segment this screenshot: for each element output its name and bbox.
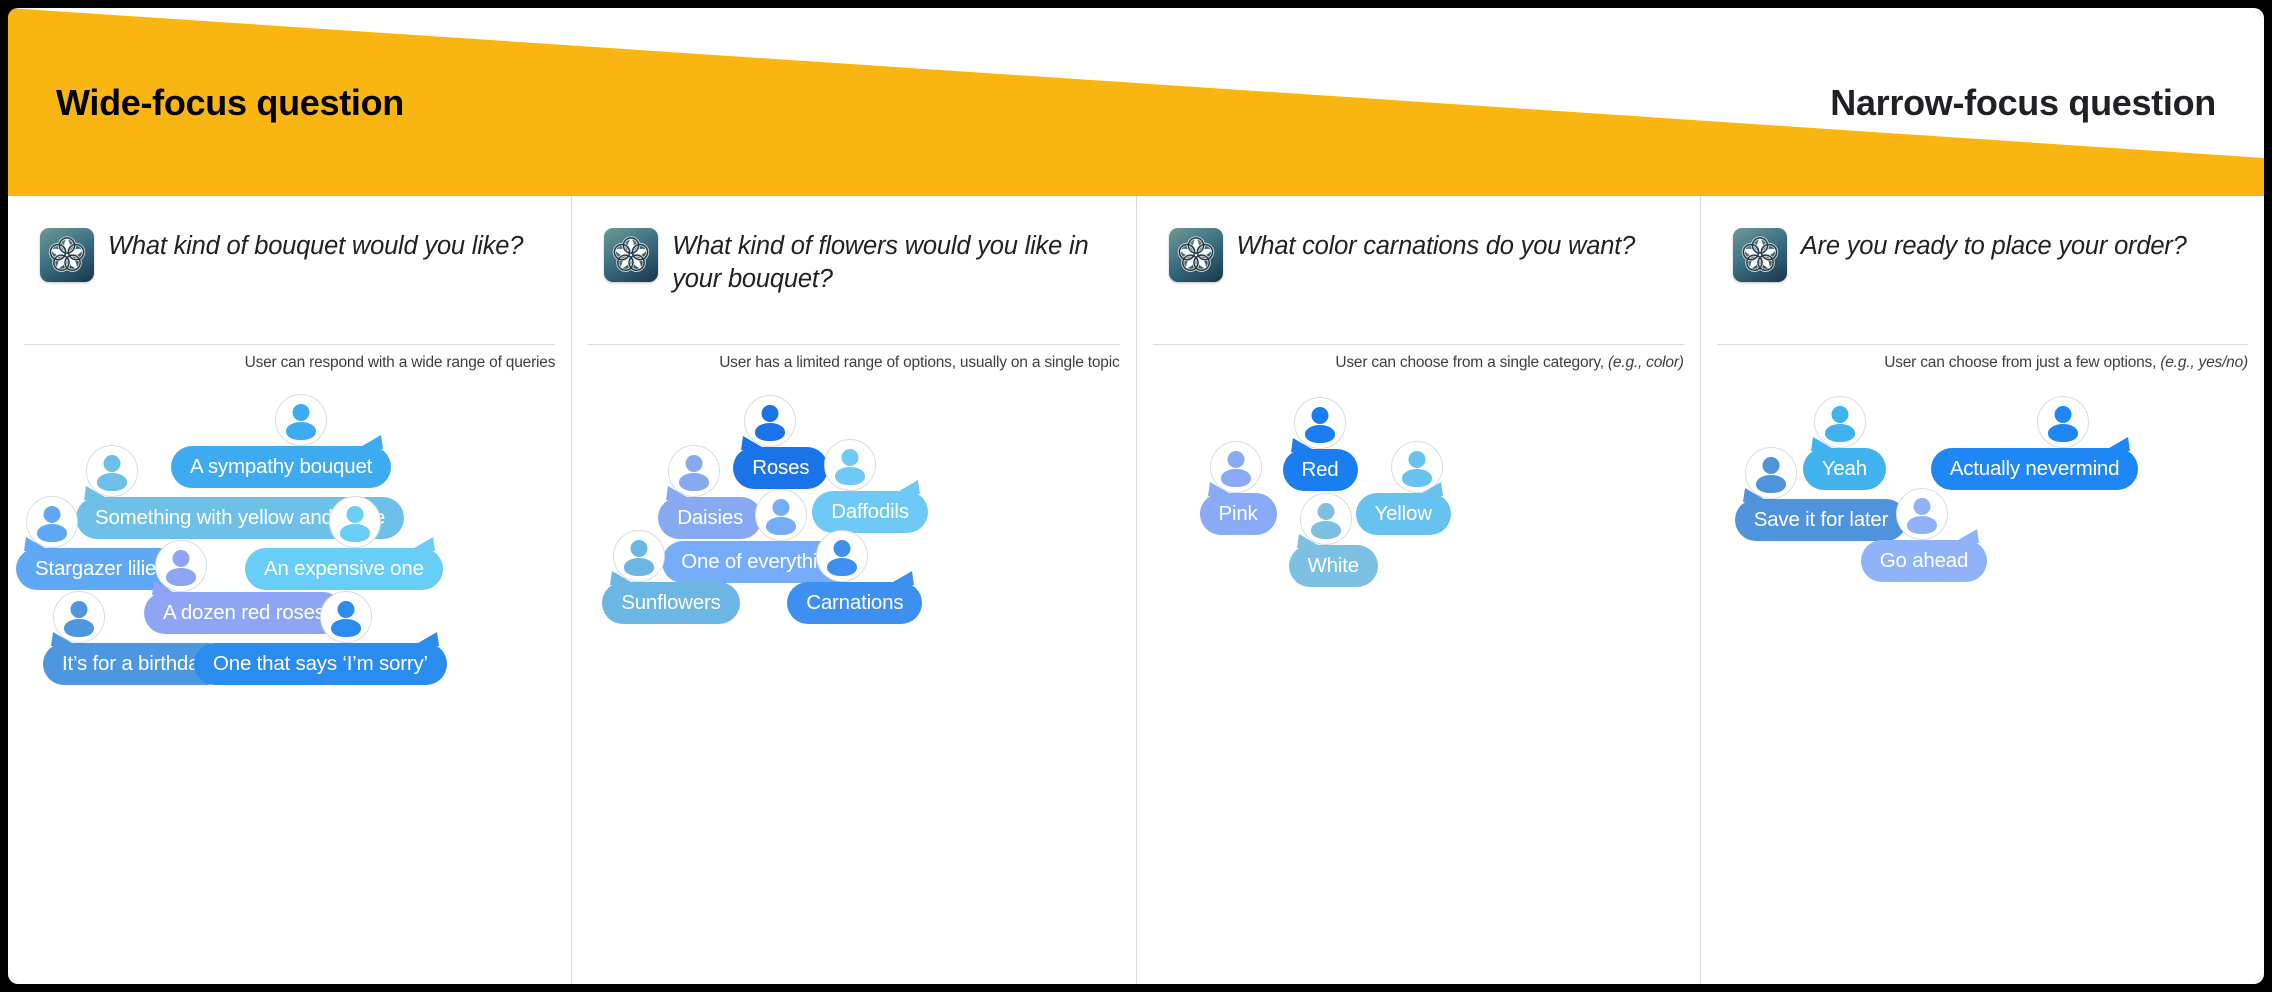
avatar-head — [1311, 407, 1328, 424]
user-reply-label: A sympathy bouquet — [190, 455, 372, 478]
question-row: What kind of bouquet would you like? — [24, 196, 555, 282]
caption-wrap: User can choose from just a few options,… — [1717, 344, 2248, 372]
user-reply-label: Daffodils — [831, 500, 909, 523]
bubble-tail-icon — [51, 632, 77, 646]
user-reply-bubble[interactable]: Pink — [1200, 493, 1277, 535]
avatar-head — [773, 499, 790, 516]
user-reply-bubble[interactable]: Actually nevermind — [1931, 448, 2139, 490]
bubble-tail-icon — [1953, 529, 1979, 543]
avatar-head — [347, 506, 364, 523]
user-avatar-icon — [1896, 488, 1948, 540]
user-reply-label: Yeah — [1822, 457, 1867, 480]
avatar-body — [340, 524, 370, 542]
user-reply-bubble[interactable]: Red — [1283, 449, 1358, 491]
avatar-head — [2054, 406, 2071, 423]
wide-focus-label: Wide-focus question — [56, 82, 404, 124]
flower-logo-icon — [40, 228, 94, 282]
question-column-3: What color carnations do you want? User … — [1136, 196, 1700, 984]
question-column-2: What kind of flowers would you like in y… — [571, 196, 1135, 984]
avatar-head — [686, 455, 703, 472]
user-reply-bubble[interactable]: A dozen red roses — [144, 592, 344, 634]
screenshot-frame: Wide-focus question Narrow-focus questio… — [0, 0, 2272, 992]
question-column-1: What kind of bouquet would you like? Use… — [8, 196, 571, 984]
user-reply-label: Actually nevermind — [1950, 457, 2120, 480]
avatar-head — [762, 405, 779, 422]
bubble-tail-icon — [1297, 534, 1323, 548]
user-reply-label: Red — [1302, 458, 1339, 481]
bubble-tail-icon — [1417, 482, 1443, 496]
column-caption: User can respond with a wide range of qu… — [24, 344, 555, 372]
bubble-tail-icon — [413, 632, 439, 646]
bubble-tail-icon — [1208, 482, 1234, 496]
user-reply-bubble[interactable]: Roses — [733, 447, 828, 489]
avatar-head — [834, 540, 851, 557]
user-reply-label: Pink — [1219, 502, 1258, 525]
user-reply-bubble[interactable]: A sympathy bouquet — [171, 446, 391, 488]
user-reply-label: A dozen red roses — [163, 601, 325, 624]
column-caption: User can choose from just a few options,… — [1717, 344, 2248, 372]
user-reply-cloud: A sympathy bouquet Something with yellow… — [8, 392, 571, 912]
caption-wrap: User has a limited range of options, usu… — [588, 344, 1119, 372]
bubble-tail-icon — [1811, 437, 1837, 451]
user-reply-label: One that says ‘I’m sorry’ — [213, 652, 428, 675]
bubble-tail-icon — [1743, 488, 1769, 502]
focus-spectrum-header: Wide-focus question Narrow-focus questio… — [8, 8, 2264, 196]
column-caption: User can choose from a single category, … — [1153, 344, 1684, 372]
user-reply-label: Save it for later — [1754, 508, 1888, 531]
avatar-head — [1762, 457, 1779, 474]
user-reply-bubble[interactable]: Yeah — [1803, 448, 1886, 490]
user-reply-bubble[interactable]: Go ahead — [1861, 540, 1987, 582]
bubble-tail-icon — [357, 435, 383, 449]
user-reply-cloud: Yeah Actually nevermind Save it for late… — [1701, 392, 2264, 912]
avatar-body — [835, 467, 865, 485]
user-avatar-icon — [2037, 396, 2089, 448]
diagram-card: Wide-focus question Narrow-focus questio… — [8, 8, 2264, 984]
user-avatar-icon — [816, 530, 868, 582]
question-column-4: Are you ready to place your order? User … — [1700, 196, 2264, 984]
user-reply-bubble[interactable]: An expensive one — [245, 548, 443, 590]
avatar-head — [338, 601, 355, 618]
avatar-head — [842, 449, 859, 466]
bubble-tail-icon — [666, 486, 692, 500]
caption-italic-part: (e.g., color) — [1608, 354, 1684, 371]
avatar-body — [331, 619, 361, 637]
user-reply-label: Carnations — [806, 591, 903, 614]
user-reply-label: An expensive one — [264, 557, 424, 580]
bubble-tail-icon — [152, 581, 178, 595]
avatar-body — [827, 558, 857, 576]
bubble-tail-icon — [894, 480, 920, 494]
user-reply-bubble[interactable]: Daisies — [658, 497, 762, 539]
avatar-head — [173, 550, 190, 567]
user-reply-bubble[interactable]: Carnations — [787, 582, 922, 624]
column-caption: User has a limited range of options, usu… — [588, 344, 1119, 372]
bubble-tail-icon — [1291, 438, 1317, 452]
bubble-tail-icon — [409, 537, 435, 551]
user-reply-cloud: Roses Daisies Daffodils One of everythin… — [572, 392, 1135, 912]
user-reply-label: Go ahead — [1880, 549, 1968, 572]
user-reply-label: Daisies — [677, 506, 743, 529]
user-reply-bubble[interactable]: Sunflowers — [602, 582, 739, 624]
avatar-head — [1831, 406, 1848, 423]
user-avatar-icon — [320, 591, 372, 643]
avatar-head — [1317, 503, 1334, 520]
user-reply-bubble[interactable]: Daffodils — [812, 491, 928, 533]
bubble-tail-icon — [84, 486, 110, 500]
user-reply-cloud: Red Pink Yellow White — [1137, 392, 1700, 912]
flower-logo-icon — [1169, 228, 1223, 282]
avatar-body — [2048, 424, 2078, 442]
user-reply-label: Sunflowers — [621, 591, 720, 614]
flower-logo-icon — [604, 228, 658, 282]
agent-question-text: Are you ready to place your order? — [1801, 228, 2187, 263]
user-reply-bubble[interactable]: Save it for later — [1735, 499, 1907, 541]
bubble-tail-icon — [610, 571, 636, 585]
agent-question-text: What kind of bouquet would you like? — [108, 228, 523, 263]
avatar-head — [104, 455, 121, 472]
avatar-body — [766, 517, 796, 535]
narrow-focus-label: Narrow-focus question — [1830, 82, 2216, 124]
user-reply-label: Yellow — [1375, 502, 1432, 525]
bubble-tail-icon — [24, 537, 50, 551]
user-avatar-icon — [755, 489, 807, 541]
avatar-head — [631, 540, 648, 557]
caption-wrap: User can respond with a wide range of qu… — [24, 344, 555, 372]
avatar-head — [293, 404, 310, 421]
user-avatar-icon — [824, 439, 876, 491]
user-reply-bubble[interactable]: One that says ‘I’m sorry’ — [194, 643, 447, 685]
avatar-head — [44, 506, 61, 523]
question-row: What kind of flowers would you like in y… — [588, 196, 1119, 295]
question-columns: What kind of bouquet would you like? Use… — [8, 196, 2264, 984]
avatar-head — [71, 601, 88, 618]
avatar-head — [1913, 498, 1930, 515]
bubble-tail-icon — [888, 571, 914, 585]
agent-question-text: What kind of flowers would you like in y… — [672, 228, 1107, 295]
user-reply-label: It’s for a birthday — [62, 652, 209, 675]
bubble-tail-icon — [2104, 437, 2130, 451]
avatar-head — [1227, 451, 1244, 468]
question-row: What color carnations do you want? — [1153, 196, 1684, 282]
avatar-body — [286, 422, 316, 440]
question-row: Are you ready to place your order? — [1717, 196, 2248, 282]
user-reply-bubble[interactable]: White — [1289, 545, 1378, 587]
agent-question-text: What color carnations do you want? — [1237, 228, 1636, 263]
avatar-body — [1907, 516, 1937, 534]
user-reply-label: Stargazer lilies — [35, 557, 166, 580]
avatar-head — [1408, 451, 1425, 468]
caption-wrap: User can choose from a single category, … — [1153, 344, 1684, 372]
bubble-tail-icon — [741, 436, 767, 450]
user-avatar-icon — [275, 394, 327, 446]
user-reply-bubble[interactable]: Yellow — [1356, 493, 1451, 535]
user-reply-label: Roses — [752, 456, 809, 479]
user-avatar-icon — [329, 496, 381, 548]
user-reply-label: White — [1308, 554, 1359, 577]
caption-italic-part: (e.g., yes/no) — [2160, 354, 2248, 371]
flower-logo-icon — [1733, 228, 1787, 282]
